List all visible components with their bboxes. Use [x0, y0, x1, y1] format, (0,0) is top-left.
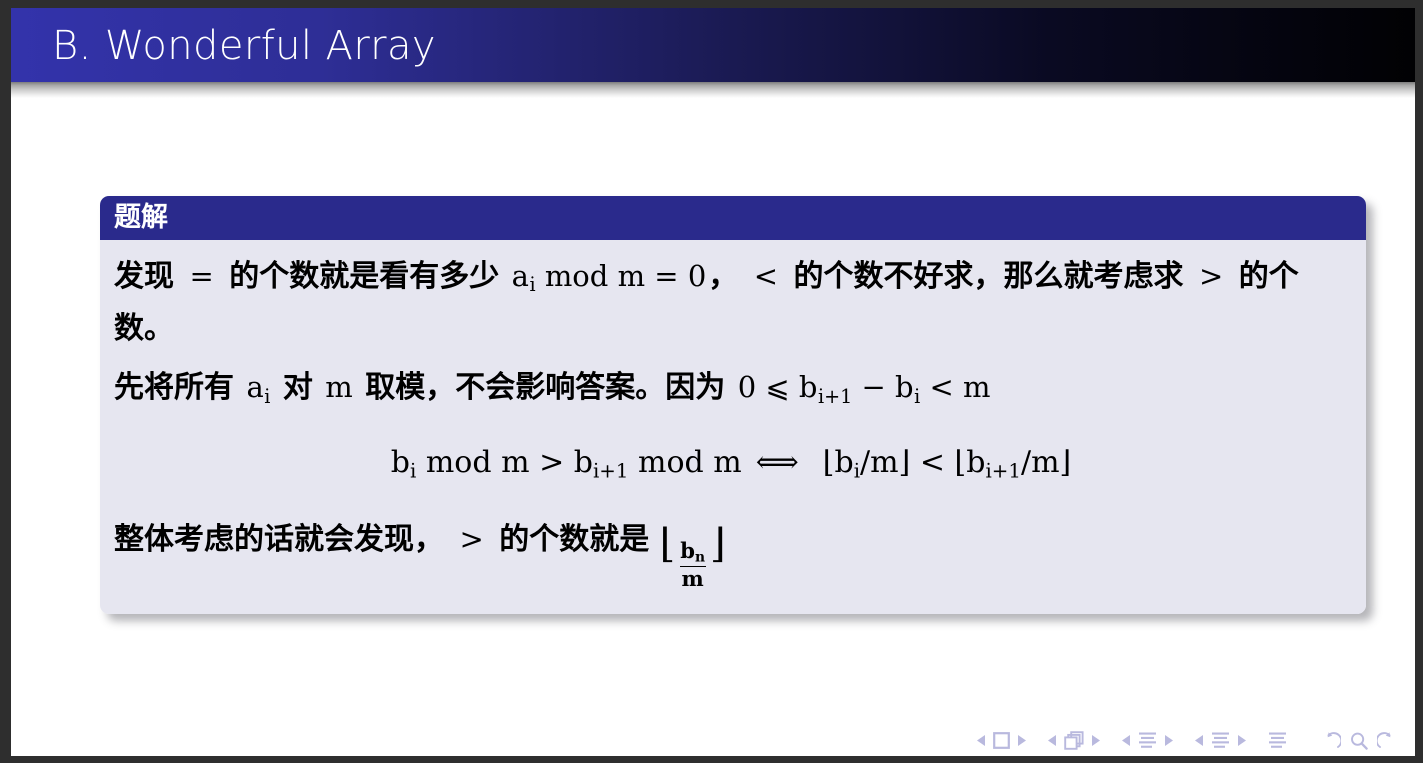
p3-text-a: 整体考虑的话就会发现，	[114, 522, 444, 557]
floor-right-bracket: ⌋	[710, 521, 726, 567]
lt-op: <	[929, 370, 953, 404]
p1-math-gt: >	[1194, 259, 1228, 293]
minus-op: −	[862, 370, 886, 404]
display-equation: bi mod m > bi+1 mod m⟺⌊bi/m⌋ < ⌊bi+1/m⌋	[114, 443, 1348, 492]
title-bar-shadow	[11, 82, 1415, 98]
p2-text-a: 先将所有	[114, 370, 234, 405]
subsection-lines-icon[interactable]	[1211, 731, 1230, 750]
var-m: m	[618, 259, 646, 293]
var-m: m	[501, 445, 529, 480]
var-m: m	[1031, 445, 1059, 480]
subscript-i: i	[410, 459, 416, 482]
section-lines-icon[interactable]	[1138, 731, 1157, 750]
paragraph-3: 整体考虑的话就会发现， > 的个数就是 ⌊bnm⌋	[114, 517, 1348, 590]
p1-math-ai-mod-m: ai mod m = 0	[510, 259, 709, 293]
next-section-icon[interactable]	[1164, 735, 1173, 746]
subsection-navigation-group[interactable]	[1195, 731, 1246, 750]
var-b: b	[391, 445, 410, 480]
fraction-bn-over-m: bnm	[675, 540, 710, 590]
p1-text-c: ，	[708, 259, 738, 294]
p1-math-eq: =	[184, 259, 218, 293]
lt-op: <	[920, 445, 945, 480]
stacked-slides-icon[interactable]	[1064, 731, 1084, 750]
presentation-slide: B. Wonderful Array 题解 发现 = 的个数就是看有多少 ai …	[0, 0, 1423, 763]
mod-op: mod	[426, 445, 492, 480]
p2-math-inequality: 0 ⩽ bi+1 − bi < m	[736, 370, 993, 404]
block-body: 发现 = 的个数就是看有多少 ai mod m = 0， < 的个数不好求，那么…	[100, 240, 1366, 614]
subscript-n: n	[695, 549, 705, 565]
const-zero: 0	[738, 370, 756, 404]
redo-arrow-icon[interactable]	[1377, 732, 1397, 750]
var-a: a	[246, 370, 263, 404]
var-m: m	[963, 370, 991, 404]
p2-math-ai: ai	[244, 370, 272, 404]
frame-icon[interactable]	[993, 732, 1010, 749]
var-m: m	[870, 445, 898, 480]
p1-text-b: 的个数就是看有多少	[229, 259, 499, 294]
subscript-i: i	[914, 385, 921, 408]
misc-navigation-group[interactable]	[1321, 732, 1397, 750]
subscript-i: i	[529, 273, 536, 296]
floor-right-bracket: ⌋	[899, 445, 911, 480]
var-m: m	[713, 445, 741, 480]
mod-op: mod	[638, 445, 704, 480]
slide-title-bar: B. Wonderful Array	[11, 8, 1415, 82]
next-slide-icon[interactable]	[1091, 735, 1100, 746]
previous-section-icon[interactable]	[1122, 735, 1131, 746]
undo-arrow-icon[interactable]	[1321, 732, 1341, 750]
document-lines-icon[interactable]	[1268, 731, 1287, 750]
mod-op: mod	[545, 259, 609, 293]
p1-text-a: 发现	[114, 259, 174, 294]
p2-text-b: 对	[283, 370, 313, 405]
previous-subsection-icon[interactable]	[1195, 735, 1204, 746]
fraction-numerator: bn	[678, 540, 707, 566]
var-b: b	[834, 445, 853, 480]
var-b: b	[574, 445, 593, 480]
const-zero: 0	[688, 259, 706, 293]
next-frame-icon[interactable]	[1017, 735, 1026, 746]
content-block-wrapper: 题解 发现 = 的个数就是看有多少 ai mod m = 0， < 的个数不好求…	[100, 196, 1366, 614]
subscript-i-plus-1: i+1	[817, 385, 852, 408]
slash-op: /	[860, 445, 870, 480]
eq-rhs: ⌊bi/m⌋ < ⌊bi+1/m⌋	[823, 445, 1072, 480]
slash-op: /	[1021, 445, 1031, 480]
leq-op: ⩽	[765, 370, 789, 404]
p2-text-c: 取模，不会影响答案。因为	[365, 370, 725, 405]
subscript-i: i	[264, 385, 271, 408]
slide-canvas: B. Wonderful Array 题解 发现 = 的个数就是看有多少 ai …	[11, 8, 1415, 756]
p3-text-b: 的个数就是	[499, 522, 649, 557]
eq-lhs: bi mod m > bi+1 mod m	[391, 445, 742, 480]
p3-math-gt: >	[454, 522, 488, 556]
var-b: b	[799, 370, 818, 404]
slide-navigation-group[interactable]	[1048, 731, 1100, 750]
var-b: b	[680, 538, 695, 563]
eq-op: =	[654, 259, 678, 293]
iff-symbol: ⟺	[742, 445, 813, 480]
floor-left-bracket: ⌊	[955, 445, 967, 480]
var-b: b	[895, 370, 914, 404]
section-navigation-group[interactable]	[1122, 731, 1173, 750]
subscript-i-plus-1: i+1	[985, 459, 1021, 482]
previous-slide-icon[interactable]	[1048, 735, 1057, 746]
floor-left-bracket: ⌊	[660, 521, 676, 567]
block-title: 题解	[100, 196, 1366, 240]
fraction-denominator: m	[680, 566, 706, 590]
document-navigation-group[interactable]	[1268, 731, 1287, 750]
next-subsection-icon[interactable]	[1237, 735, 1246, 746]
theorem-block: 题解 发现 = 的个数就是看有多少 ai mod m = 0， < 的个数不好求…	[100, 196, 1366, 614]
gt-op: >	[539, 445, 564, 480]
magnifier-icon[interactable]	[1350, 732, 1368, 750]
paragraph-2: 先将所有 ai 对 m 取模，不会影响答案。因为 0 ⩽ bi+1 − bi <…	[114, 365, 1348, 418]
p1-math-lt: <	[749, 259, 783, 293]
p2-math-m: m	[323, 370, 355, 404]
frame-navigation-group[interactable]	[977, 732, 1026, 749]
floor-right-bracket: ⌋	[1060, 445, 1072, 480]
floor-left-bracket: ⌊	[823, 445, 835, 480]
var-b: b	[966, 445, 985, 480]
p1-text-d: 的个数不好求，那么就考虑求	[793, 259, 1183, 294]
paragraph-1: 发现 = 的个数就是看有多少 ai mod m = 0， < 的个数不好求，那么…	[114, 254, 1348, 351]
subscript-i-plus-1: i+1	[593, 459, 629, 482]
previous-frame-icon[interactable]	[977, 735, 986, 746]
var-a: a	[512, 259, 529, 293]
page-title: B. Wonderful Array	[52, 22, 436, 70]
beamer-navigation-bar[interactable]	[977, 731, 1397, 750]
